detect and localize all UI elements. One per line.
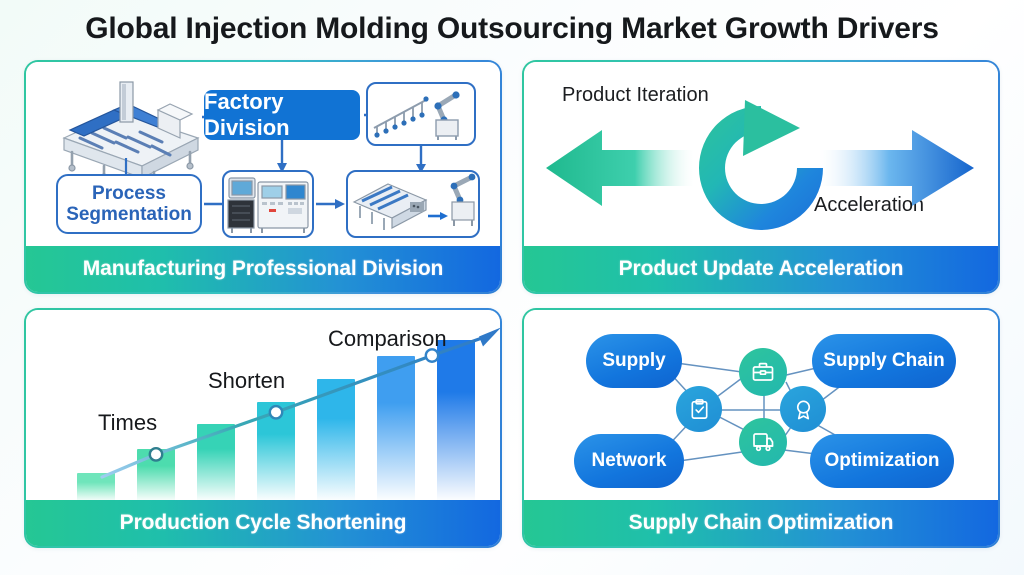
award-badge-icon: [792, 398, 815, 421]
hub-node-truck[interactable]: [739, 418, 787, 466]
conveyor-robot-arm-icon: [348, 172, 478, 236]
trend-marker-1: [150, 448, 162, 460]
delivery-truck-icon: [751, 430, 775, 454]
chart-annotation-shorten: Shorten: [208, 368, 285, 394]
control-console-box[interactable]: [222, 170, 314, 238]
conveyor-robot-arm-box[interactable]: [346, 170, 480, 238]
control-console-icon: [224, 172, 312, 236]
circular-refresh-arrow-icon: [699, 100, 823, 230]
node-pill-supply-chain[interactable]: Supply Chain: [812, 334, 956, 388]
hub-node-toolbox[interactable]: [739, 348, 787, 396]
card-body-manufacturing: Factory Division: [26, 62, 500, 248]
robot-arm-rack-icon: [368, 84, 474, 144]
factory-division-pill[interactable]: Factory Division: [204, 90, 360, 140]
arrow-console-to-conveyor-icon: [316, 198, 346, 210]
toolbox-icon: [751, 360, 775, 384]
cnc-gantry-machine-icon: [58, 76, 208, 181]
node-pill-optimization[interactable]: Optimization: [810, 434, 954, 488]
card-body-supply-chain: Supply Supply Chain Network Optimization: [524, 310, 998, 502]
connector-machine-to-process-icon: [122, 158, 130, 176]
card-footer-supply-chain: Supply Chain Optimization: [524, 500, 998, 546]
left-arrow-icon: [546, 130, 694, 206]
card-product-update-acceleration[interactable]: Product Iteration Acceleration: [522, 60, 1000, 294]
hub-node-award[interactable]: [780, 386, 826, 432]
node-pill-network-label: Network: [592, 450, 667, 472]
acceleration-cycle-graphic: [534, 98, 989, 238]
arrow-factory-to-console-icon: [276, 140, 288, 174]
node-pill-optimization-label: Optimization: [824, 450, 939, 472]
card-footer-production-cycle: Production Cycle Shortening: [26, 500, 500, 546]
right-arrow-icon: [819, 130, 974, 206]
chart-annotation-times: Times: [98, 410, 157, 436]
card-production-cycle-shortening[interactable]: Times Shorten Comparison Production Cycl…: [24, 308, 502, 548]
node-pill-supply-label: Supply: [602, 350, 665, 372]
card-supply-chain-optimization[interactable]: Supply Supply Chain Network Optimization: [522, 308, 1000, 548]
node-pill-supply[interactable]: Supply: [586, 334, 682, 388]
node-pill-network[interactable]: Network: [574, 434, 684, 488]
node-pill-supply-chain-label: Supply Chain: [823, 350, 944, 372]
process-segmentation-label: ProcessSegmentation: [66, 183, 192, 226]
chart-annotation-comparison: Comparison: [328, 326, 447, 352]
card-body-product-update: Product Iteration Acceleration: [524, 62, 998, 248]
card-footer-manufacturing: Manufacturing Professional Division: [26, 246, 500, 292]
process-segmentation-box[interactable]: ProcessSegmentation: [56, 174, 202, 234]
robot-arm-rack-box[interactable]: [366, 82, 476, 146]
clipboard-check-icon: [688, 398, 711, 421]
trend-marker-2: [270, 406, 282, 418]
card-manufacturing-professional-division[interactable]: Factory Division: [24, 60, 502, 294]
hub-node-clipboard[interactable]: [676, 386, 722, 432]
page-title: Global Injection Molding Outsourcing Mar…: [0, 12, 1024, 46]
card-footer-product-update: Product Update Acceleration: [524, 246, 998, 292]
factory-division-label: Factory Division: [204, 89, 360, 141]
card-body-production-cycle: Times Shorten Comparison: [26, 310, 500, 502]
